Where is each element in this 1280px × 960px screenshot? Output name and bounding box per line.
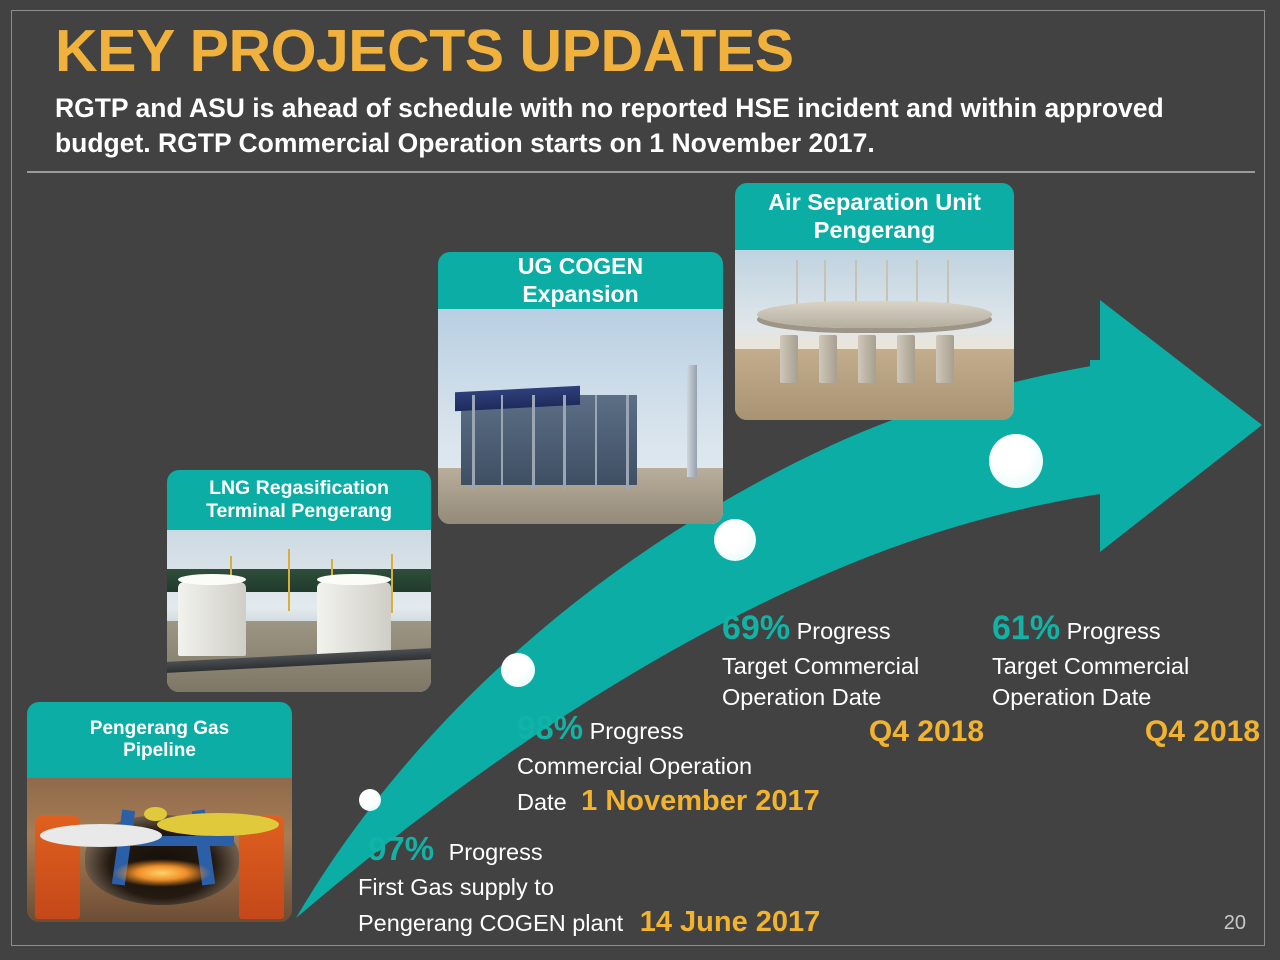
stat-block-98: 98% Progress Commercial Operation Date 1… [517, 705, 947, 822]
stat-block-61: 61% Progress Target Commercial Operation… [992, 606, 1260, 752]
stat-97-date: 14 June 2017 [640, 906, 821, 938]
cogen-title-line1: UG COGEN [518, 253, 643, 279]
pipe-title-line1: Pengerang Gas [90, 718, 229, 739]
stat-98-date: 1 November 2017 [581, 785, 820, 817]
stat-98-detail-line1: Commercial Operation [517, 750, 947, 782]
project-card-title-lng: LNG Regasification Terminal Pengerang [167, 470, 431, 530]
project-card-pengerang-gas-pipeline[interactable]: Pengerang Gas Pipeline [27, 702, 292, 922]
stat-69-progress-label: Progress [797, 618, 891, 644]
stat-61-detail-line2: Operation Date [992, 684, 1151, 710]
milestone-dot-2 [501, 653, 535, 687]
stat-97-progress-label: Progress [449, 839, 543, 865]
milestone-dot-4 [989, 434, 1043, 488]
project-card-title-asu: Air Separation Unit Pengerang [735, 183, 1014, 250]
stat-61-date: Q4 2018 [1145, 715, 1260, 748]
project-card-air-separation-unit[interactable]: Air Separation Unit Pengerang [735, 183, 1014, 420]
project-card-ug-cogen-expansion[interactable]: UG COGEN Expansion [438, 252, 723, 524]
stat-61-progress-label: Progress [1067, 618, 1161, 644]
slide-number: 20 [1224, 912, 1246, 935]
stat-97-detail-line1: First Gas supply to [358, 871, 938, 903]
project-photo-cogen [438, 309, 723, 524]
stat-69-detail-line1: Target Commercial [722, 651, 984, 682]
milestone-dot-1 [359, 789, 381, 811]
lng-title-line2: Terminal Pengerang [206, 500, 392, 522]
cogen-title-line2: Expansion [522, 281, 638, 307]
stat-block-97: 97% Progress First Gas supply to Pengera… [358, 826, 938, 943]
project-card-title-cogen: UG COGEN Expansion [438, 252, 723, 309]
project-card-lng-regasification-terminal[interactable]: LNG Regasification Terminal Pengerang [167, 470, 431, 692]
asu-title-line2: Pengerang [814, 217, 935, 243]
stat-97-detail-line2: Pengerang COGEN plant [358, 910, 623, 936]
stat-98-percent: 98% [517, 709, 583, 746]
stat-69-percent: 69% [722, 609, 790, 647]
project-photo-lng [167, 530, 431, 692]
stat-97-percent: 97% [368, 830, 434, 867]
project-photo-asu [735, 250, 1014, 420]
asu-title-line1: Air Separation Unit [768, 189, 981, 215]
slide-canvas: KEY PROJECTS UPDATES RGTP and ASU is ahe… [0, 0, 1280, 960]
pipe-title-line2: Pipeline [123, 740, 196, 761]
project-photo-pipeline [27, 778, 292, 922]
project-card-title-pipeline: Pengerang Gas Pipeline [27, 702, 292, 778]
stat-98-progress-label: Progress [590, 718, 684, 744]
stat-61-detail-line1: Target Commercial [992, 651, 1260, 682]
milestone-dot-3 [714, 519, 756, 561]
stat-61-percent: 61% [992, 609, 1060, 647]
arrow-head [1090, 300, 1262, 552]
lng-title-line1: LNG Regasification [209, 477, 389, 499]
stat-98-detail-line2: Date [517, 789, 567, 815]
